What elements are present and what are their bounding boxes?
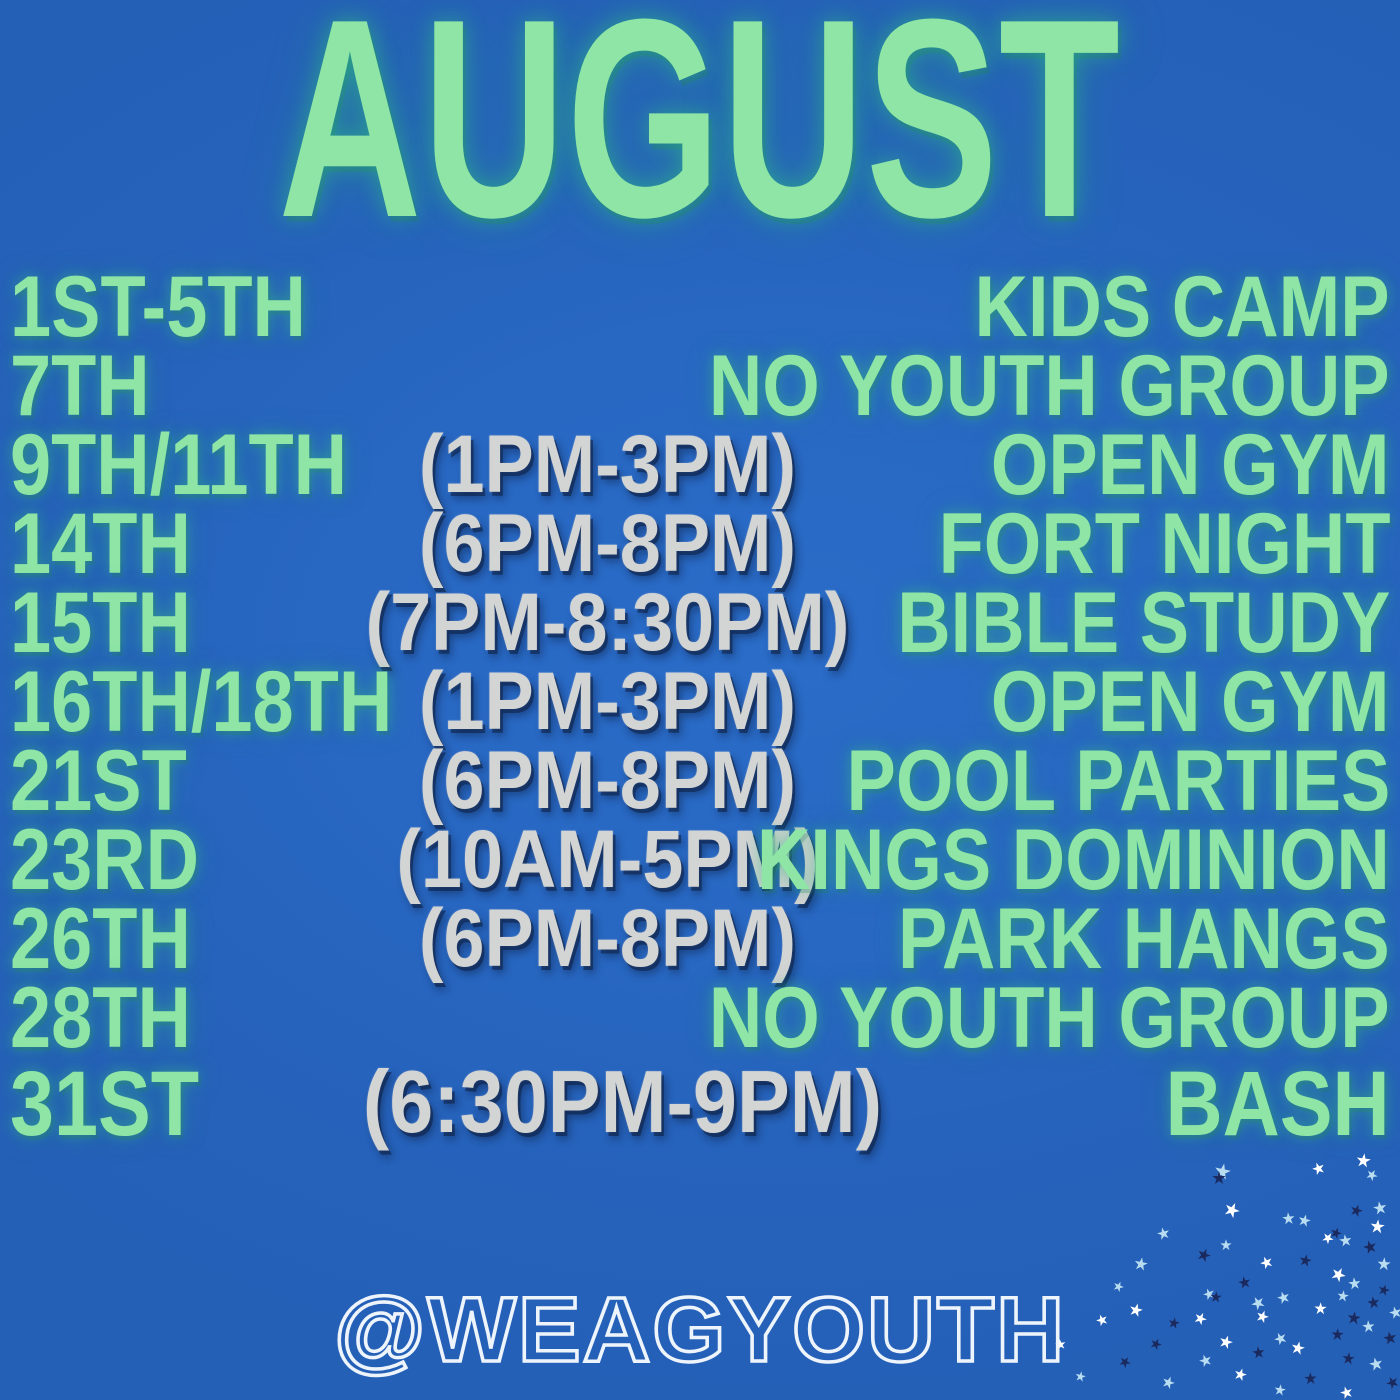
schedule-row: 15TH(7PM-8:30PM)BIBLE STUDY: [0, 578, 1400, 657]
star-icon: [1254, 1308, 1271, 1325]
star-icon: [1328, 1264, 1348, 1284]
star-icon: [1257, 1253, 1274, 1270]
star-icon: [1195, 1246, 1213, 1264]
schedule-row: 16TH/18TH(1PM-3PM)OPEN GYM: [0, 657, 1400, 736]
star-icon: [1133, 1256, 1149, 1272]
schedule-row: 21ST(6PM-8PM)POOL PARTIES: [0, 736, 1400, 815]
star-icon: [1273, 1383, 1287, 1397]
star-icon: [1368, 1356, 1385, 1373]
star-icon: [1361, 1238, 1378, 1255]
schedule-row: 26TH(6PM-8PM)PARK HANGS: [0, 894, 1400, 973]
star-icon: [1366, 1295, 1381, 1310]
star-icon: [1313, 1301, 1326, 1314]
star-icon: [1201, 1286, 1216, 1301]
star-icon: [1348, 1202, 1364, 1218]
schedule-row: 14TH(6PM-8PM)FORT NIGHT: [0, 499, 1400, 578]
star-icon: [1073, 1369, 1086, 1382]
star-icon: [1212, 1161, 1232, 1181]
star-icon: [1248, 1293, 1267, 1312]
star-icon: [1094, 1312, 1110, 1328]
star-icon: [1217, 1333, 1235, 1351]
star-icon: [1212, 1171, 1226, 1185]
star-icon: [1296, 1212, 1312, 1228]
star-icon: [1328, 1225, 1343, 1240]
star-icon: [1369, 1218, 1385, 1234]
star-icon: [1271, 1329, 1288, 1346]
star-icon: [1387, 1304, 1400, 1320]
schedule-row: 28THNO YOUTH GROUP: [0, 973, 1400, 1052]
star-icon: [1377, 1257, 1392, 1272]
schedule-time: (6:30PM-9PM): [62, 1058, 1183, 1146]
star-icon: [1372, 1200, 1388, 1216]
star-icon: [1251, 1345, 1265, 1359]
star-icon: [1346, 1310, 1362, 1326]
star-icon: [1383, 1373, 1400, 1391]
star-icon: [1232, 1366, 1248, 1382]
star-icon: [1155, 1225, 1171, 1241]
schedule-date: 28TH: [10, 975, 191, 1061]
schedule-list: 1ST-5THKIDS CAMP7THNO YOUTH GROUP9TH/11T…: [0, 262, 1400, 1152]
schedule-row: 9TH/11TH(1PM-3PM)OPEN GYM: [0, 420, 1400, 499]
schedule-row: 23RD(10AM-5PM)KINGS DOMINION: [0, 815, 1400, 894]
star-icon: [1275, 1289, 1291, 1305]
star-icon: [1236, 1274, 1251, 1289]
star-icon: [1221, 1199, 1242, 1220]
star-icon: [1330, 1327, 1344, 1341]
star-icon: [1148, 1336, 1164, 1352]
schedule-row: 1ST-5THKIDS CAMP: [0, 262, 1400, 341]
poster-canvas: AUGUST 1ST-5THKIDS CAMP7THNO YOUTH GROUP…: [0, 0, 1400, 1400]
star-icon: [1290, 1340, 1307, 1357]
star-icon: [1303, 1371, 1317, 1385]
star-icon: [1160, 1374, 1177, 1391]
star-icon: [1111, 1279, 1125, 1293]
page-title: AUGUST: [279, 3, 1121, 235]
star-icon: [1297, 1252, 1312, 1267]
title-container: AUGUST: [0, 6, 1400, 231]
star-icon: [1167, 1316, 1181, 1330]
instagram-handle[interactable]: @WEAGYOUTH: [334, 1278, 1066, 1383]
schedule-row: 31ST(6:30PM-9PM)BASH: [0, 1052, 1400, 1148]
star-icon: [1281, 1211, 1295, 1225]
star-icon: [1117, 1354, 1133, 1370]
star-icon: [1336, 1289, 1350, 1303]
star-icon: [1338, 1233, 1353, 1248]
star-icon: [1341, 1351, 1355, 1365]
star-icon: [1310, 1160, 1327, 1177]
star-icon: [1197, 1352, 1214, 1369]
schedule-row: 7THNO YOUTH GROUP: [0, 341, 1400, 420]
star-icon: [1361, 1319, 1375, 1333]
schedule-event: BASH: [1166, 1058, 1390, 1150]
star-icon: [1209, 1290, 1222, 1303]
star-icon: [1382, 1330, 1398, 1346]
star-icon: [1377, 1283, 1392, 1298]
star-icon: [1191, 1309, 1208, 1326]
star-icon: [1054, 1338, 1067, 1351]
star-icon: [1220, 1239, 1232, 1251]
star-icon: [1347, 1276, 1361, 1290]
social-handle-container: @WEAGYOUTH: [0, 1282, 1400, 1378]
schedule-event: NO YOUTH GROUP: [709, 975, 1390, 1061]
star-icon: [1127, 1301, 1144, 1318]
star-icon: [1364, 1167, 1380, 1183]
star-icon: [1320, 1230, 1337, 1247]
star-icon: [1338, 1384, 1354, 1400]
